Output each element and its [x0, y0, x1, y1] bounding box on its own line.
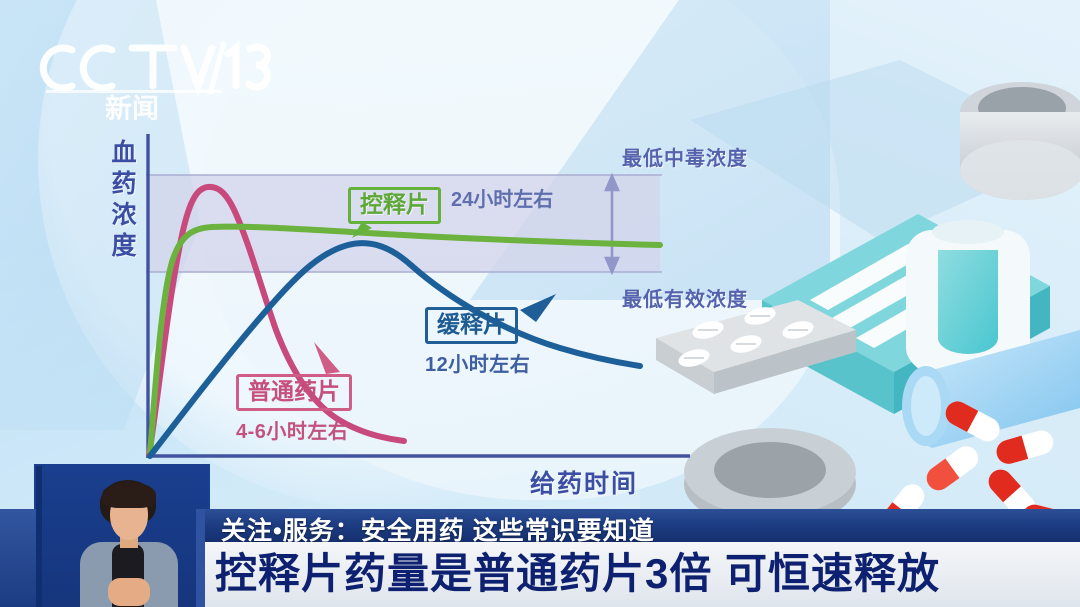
callout-ordinary-tablet-duration: 4-6小时左右	[236, 415, 352, 444]
x-axis-label: 给药时间	[530, 464, 638, 500]
y-axis-char-4: 度	[104, 231, 144, 262]
anchor-window-edge	[36, 466, 42, 607]
y-axis-char-3: 浓	[104, 200, 144, 231]
y-axis-label: 血 药 浓 度	[104, 138, 144, 262]
lower-third-headline-bar: 控释片药量是普通药片3倍 可恒速释放	[205, 542, 1080, 607]
news-anchor-window	[36, 466, 208, 607]
callout-ordinary-tablet: 普通药片 4-6小时左右	[236, 374, 352, 444]
y-axis-char-2: 药	[104, 169, 144, 200]
label-minimum-toxic-concentration: 最低中毒浓度	[622, 142, 748, 171]
broadcast-screenshot: 新闻	[0, 0, 1080, 607]
anchor-hands	[108, 578, 150, 606]
y-axis-char-1: 血	[104, 138, 144, 169]
callout-sustained-release-duration: 12小时左右	[425, 348, 530, 377]
callout-sustained-release: 缓释片 12小时左右	[425, 307, 530, 377]
medicine-vial-gray	[960, 82, 1080, 200]
callout-ordinary-tablet-title: 普通药片	[236, 374, 352, 411]
lower-third-divider	[196, 509, 205, 607]
lower-third-left-rail	[0, 509, 36, 607]
label-minimum-effective-concentration: 最低有效浓度	[622, 283, 748, 312]
callout-sustained-release-title: 缓释片	[425, 307, 518, 344]
lower-third-topic-bar: 关注•服务：安全用药 这些常识要知道	[205, 509, 1080, 542]
callout-controlled-release-duration: 24小时左右	[451, 183, 553, 212]
callout-controlled-release-title: 控释片	[348, 187, 441, 224]
callout-controlled-release: 控释片24小时左右	[348, 183, 553, 224]
curve-sustained-release	[150, 243, 640, 456]
lower-third-headline-text: 控释片药量是普通药片3倍 可恒速释放	[215, 540, 940, 601]
anchor-hair-front	[102, 482, 156, 508]
